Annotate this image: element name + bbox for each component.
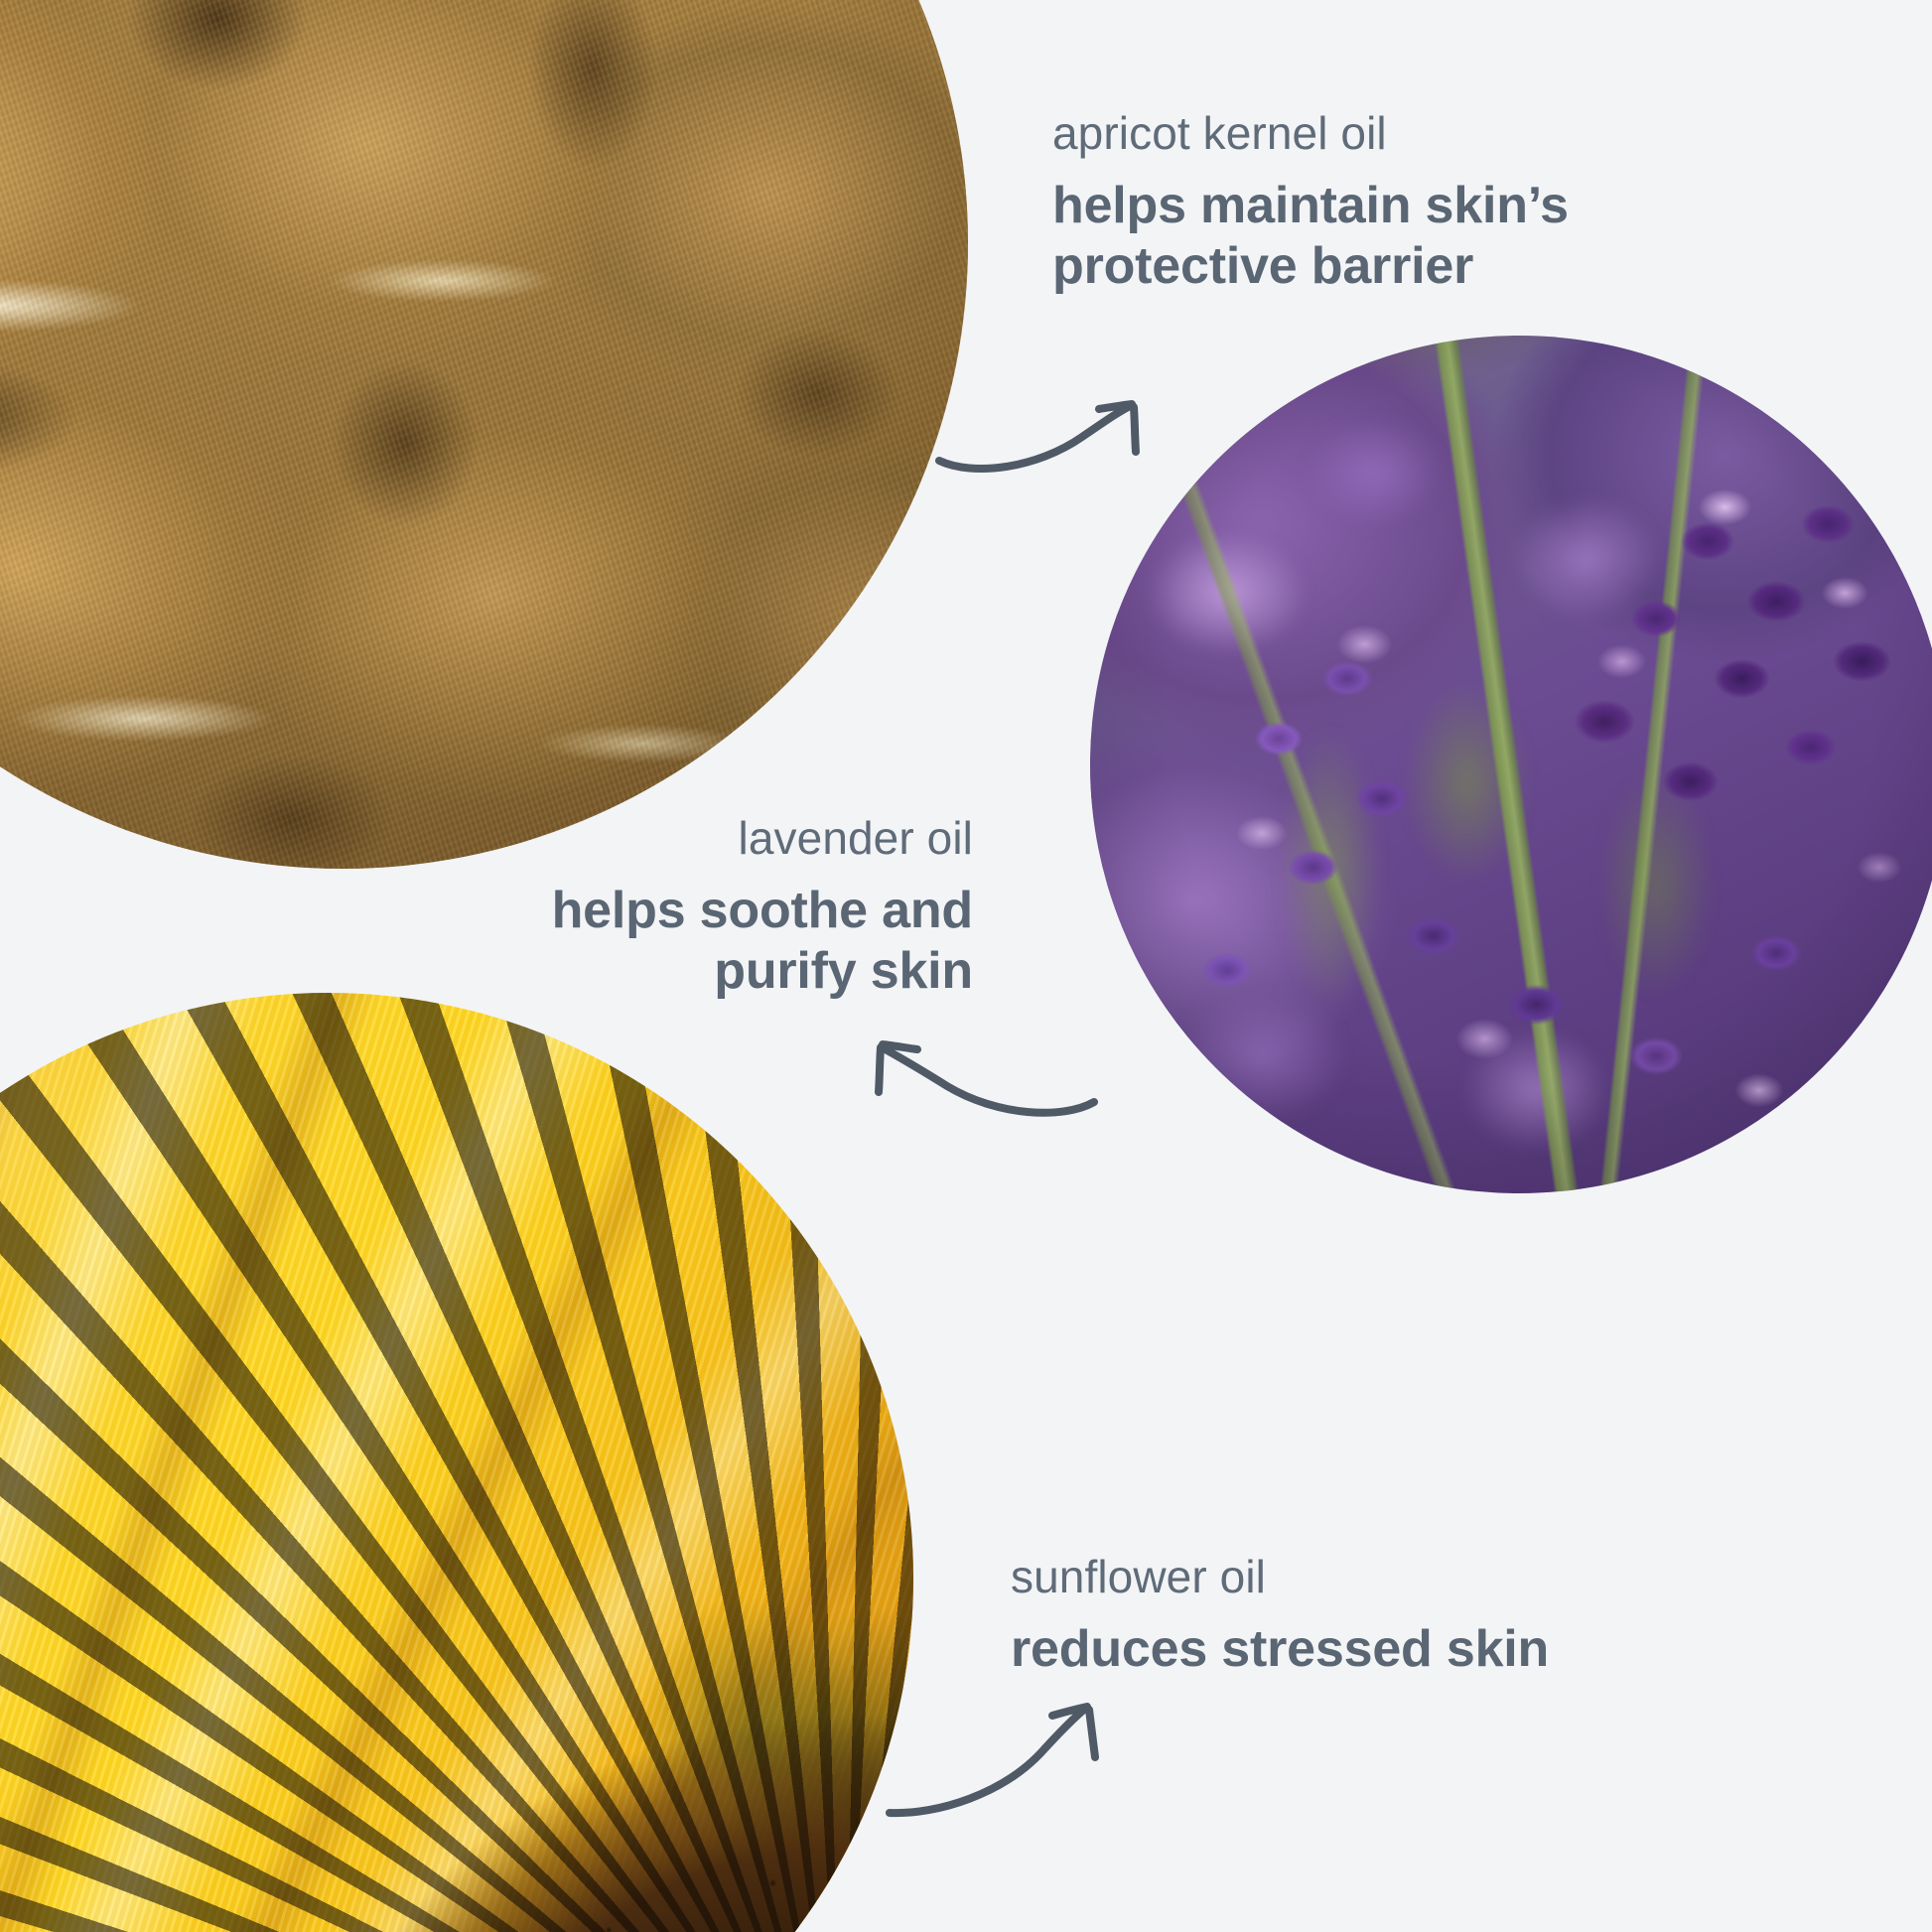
arrow-to-lavender-photo	[852, 1021, 1100, 1150]
ingredient-benefits-infographic: apricot kernel oil helps maintain skin’s…	[0, 0, 1932, 1932]
ingredient-label-apricot: apricot kernel oil	[1052, 107, 1668, 160]
ingredient-label-lavender: lavender oil	[417, 812, 973, 865]
callout-lavender-oil: lavender oil helps soothe and purify ski…	[417, 812, 973, 1002]
ingredient-benefit-lavender: helps soothe and purify skin	[417, 881, 973, 1002]
apricot-vignette-layer	[0, 0, 968, 869]
lavender-vignette-layer	[1090, 336, 1932, 1193]
arrow-curve-icon	[884, 1048, 1094, 1113]
callout-apricot-kernel-oil: apricot kernel oil helps maintain skin’s…	[1052, 107, 1668, 297]
benefit-line: helps maintain skin’s	[1052, 176, 1668, 236]
arrow-curve-icon	[939, 405, 1132, 469]
ingredient-label-sunflower: sunflower oil	[1011, 1551, 1646, 1603]
arrow-curve-icon	[890, 1708, 1086, 1813]
arrow-to-sunflower-photo	[882, 1686, 1140, 1845]
sunflower-petals-photo	[0, 993, 913, 1932]
lavender-flowers-photo	[1090, 336, 1932, 1193]
benefit-line: reduces stressed skin	[1011, 1619, 1646, 1680]
apricot-kernels-photo	[0, 0, 968, 869]
benefit-line: helps soothe and	[417, 881, 973, 941]
sunflower-vignette-layer	[0, 993, 913, 1932]
callout-sunflower-oil: sunflower oil reduces stressed skin	[1011, 1551, 1646, 1680]
arrow-head-lower-icon	[1089, 1710, 1095, 1757]
arrow-to-apricot-photo	[933, 385, 1172, 514]
benefit-line: protective barrier	[1052, 236, 1668, 297]
arrow-head-lower-icon	[879, 1047, 881, 1092]
arrow-head-upper-icon	[1099, 404, 1132, 409]
ingredient-benefit-sunflower: reduces stressed skin	[1011, 1619, 1646, 1680]
benefit-line: purify skin	[417, 941, 973, 1002]
arrow-head-upper-icon	[883, 1044, 917, 1049]
arrow-head-lower-icon	[1134, 407, 1136, 452]
ingredient-benefit-apricot: helps maintain skin’s protective barrier	[1052, 176, 1668, 297]
